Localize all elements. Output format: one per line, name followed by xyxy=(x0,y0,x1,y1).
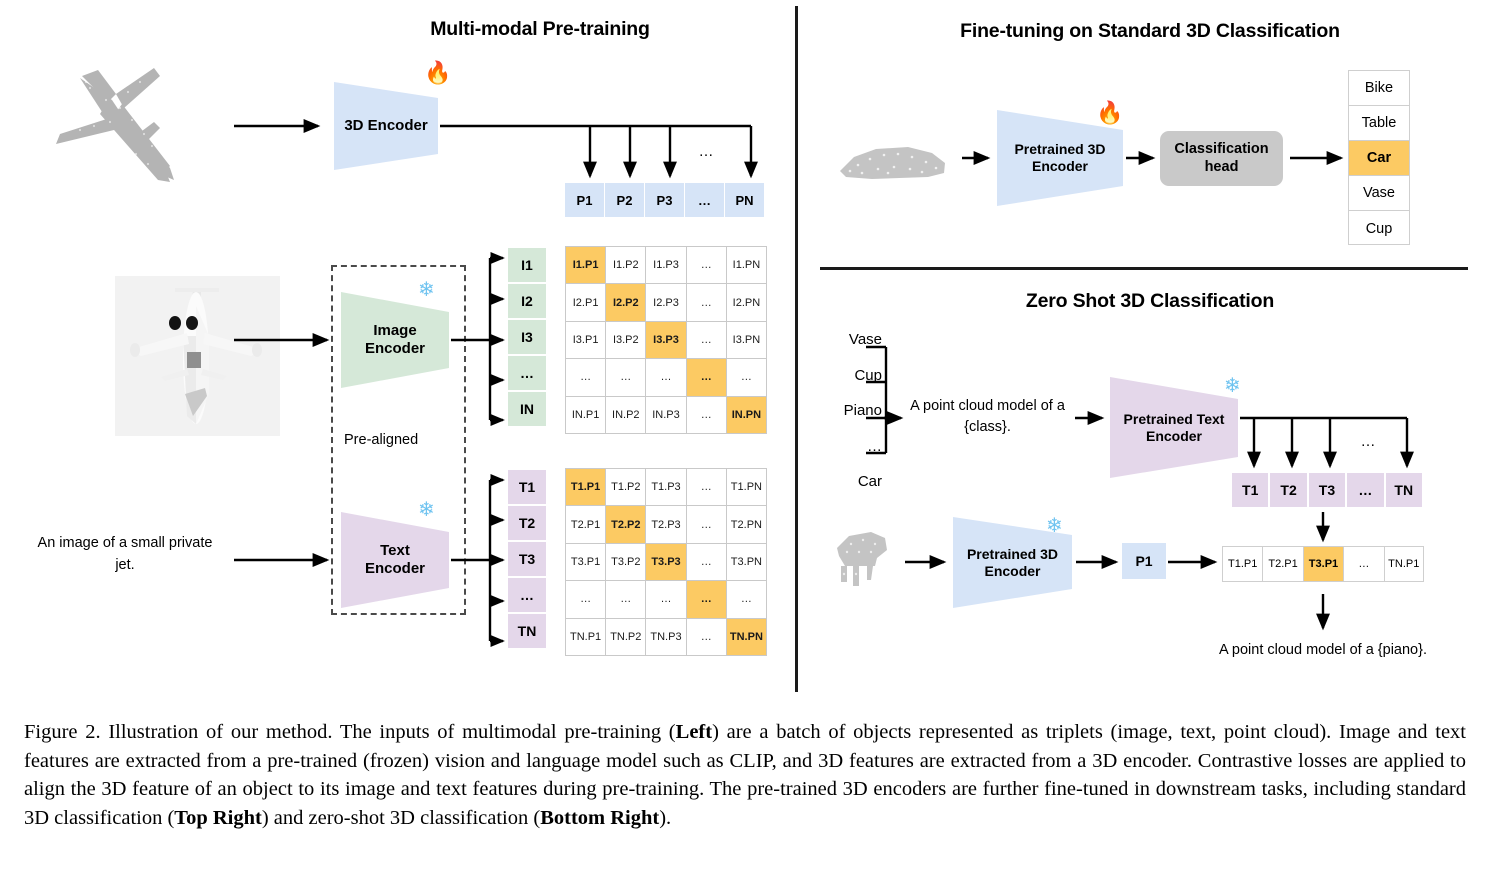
class-list-item[interactable]: Table xyxy=(1349,106,1409,141)
zero-shot-score-cell: T2.P1 xyxy=(1262,546,1302,582)
fire-icon: 🔥 xyxy=(424,62,451,84)
car-point-cloud xyxy=(832,135,952,187)
classification-head-label: Classification head xyxy=(1174,141,1268,176)
image-matrix-cell: I2.P2 xyxy=(606,284,645,320)
p-feature-cell: P1 xyxy=(565,183,605,217)
text-matrix-cell: … xyxy=(727,581,766,617)
image-matrix-cell: I3.P3 xyxy=(646,322,685,358)
classification-head[interactable]: Classification head xyxy=(1160,131,1283,186)
text-matrix-cell: … xyxy=(687,506,726,542)
zero-shot-t-row: T1T2T3…TN xyxy=(1232,473,1424,507)
text-matrix-cell: T3.P3 xyxy=(646,544,685,580)
snowflake-icon: ❄ xyxy=(1046,516,1063,536)
i-feature-cell: … xyxy=(508,356,546,392)
text-matrix-cell: T2.PN xyxy=(727,506,766,542)
image-matrix-cell: I3.PN xyxy=(727,322,766,358)
svg-text:…: … xyxy=(1361,433,1376,450)
private-jet-render xyxy=(115,276,280,436)
image-matrix-cell: IN.P1 xyxy=(566,397,605,433)
piano-point-cloud xyxy=(823,520,901,592)
p-feature-cell: P3 xyxy=(645,183,685,217)
text-matrix-cell: T2.P1 xyxy=(566,506,605,542)
text-matrix-cell: TN.P2 xyxy=(606,619,645,655)
image-matrix-cell: I3.P1 xyxy=(566,322,605,358)
bottom-right-panel-title: Zero Shot 3D Classification xyxy=(830,290,1470,313)
p-feature-cell: … xyxy=(685,183,725,217)
airplane-point-cloud xyxy=(20,48,220,208)
top-right-panel-title: Fine-tuning on Standard 3D Classificatio… xyxy=(830,20,1470,43)
zero-shot-score-cell: TN.P1 xyxy=(1384,546,1424,582)
pre-aligned-label: Pre-aligned xyxy=(344,432,418,448)
class-list-item[interactable]: Cup xyxy=(1349,211,1409,246)
zero-shot-score-cell: T3.P1 xyxy=(1303,546,1343,582)
t-feature-cell: T2 xyxy=(508,506,546,542)
text-encoder[interactable]: Text Encoder xyxy=(339,510,451,610)
i-feature-cell: I2 xyxy=(508,284,546,320)
p-feature-row: P1P2P3…PN xyxy=(565,183,765,217)
text-matrix-cell: … xyxy=(687,581,726,617)
image-matrix-cell: I1.PN xyxy=(727,247,766,283)
text-matrix-cell: T1.P2 xyxy=(606,469,645,505)
image-matrix-cell: I1.P3 xyxy=(646,247,685,283)
pretrained-text-encoder-label: Pretrained Text Encoder xyxy=(1108,375,1240,480)
image-matrix-cell: … xyxy=(566,359,605,395)
image-matrix-cell: I1.P1 xyxy=(566,247,605,283)
text-matrix-cell: T1.P1 xyxy=(566,469,605,505)
class-list-item[interactable]: Car xyxy=(1349,141,1409,176)
text-encoder-label: Text Encoder xyxy=(339,510,451,610)
t-feature-cell: TN xyxy=(508,614,546,650)
zero-shot-t-cell: T1 xyxy=(1232,473,1270,507)
zero-shot-class-label: Vase xyxy=(820,331,882,348)
zero-shot-class-list: VaseCupPiano…Car xyxy=(820,335,882,480)
figure-root: Multi-modal Pre-training xyxy=(0,0,1490,888)
pretrained-text-encoder[interactable]: Pretrained Text Encoder xyxy=(1108,375,1240,480)
text-matrix-cell: … xyxy=(606,581,645,617)
t-feature-cell: … xyxy=(508,578,546,614)
zero-shot-score-cell: … xyxy=(1343,546,1383,582)
image-matrix-cell: … xyxy=(687,284,726,320)
zero-shot-t-cell: … xyxy=(1347,473,1385,507)
i-feature-cell: I1 xyxy=(508,248,546,284)
svg-text:…: … xyxy=(699,143,714,160)
image-encoder[interactable]: Image Encoder xyxy=(339,290,451,390)
zero-shot-t-cell: T3 xyxy=(1309,473,1347,507)
p1-token: P1 xyxy=(1122,543,1166,579)
image-matrix-cell: IN.PN xyxy=(727,397,766,433)
image-matrix-cell: I3.P2 xyxy=(606,322,645,358)
zero-shot-class-label: Cup xyxy=(820,367,882,384)
t-feature-cell: T1 xyxy=(508,470,546,506)
t-feature-column: T1T2T3…TN xyxy=(508,470,546,652)
image-matrix-cell: IN.P3 xyxy=(646,397,685,433)
text-matrix-cell: TN.PN xyxy=(727,619,766,655)
text-input-caption: An image of a small private jet. xyxy=(30,532,220,576)
zero-shot-class-label: Car xyxy=(820,473,882,490)
image-matrix-cell: … xyxy=(606,359,645,395)
zero-shot-score-row: T1.P1T2.P1T3.P1…TN.P1 xyxy=(1222,546,1424,582)
p1-token-label: P1 xyxy=(1135,553,1152,569)
image-matrix-cell: … xyxy=(727,359,766,395)
p-feature-cell: P2 xyxy=(605,183,645,217)
figure-caption: Figure 2. Illustration of our method. Th… xyxy=(24,718,1466,832)
text-matrix-cell: T1.PN xyxy=(727,469,766,505)
text-matrix-cell: T3.PN xyxy=(727,544,766,580)
horizontal-divider xyxy=(820,267,1468,270)
image-matrix-cell: IN.P2 xyxy=(606,397,645,433)
zero-shot-t-cell: T2 xyxy=(1270,473,1308,507)
zero-shot-score-cell: T1.P1 xyxy=(1222,546,1262,582)
image-matrix-cell: I2.P1 xyxy=(566,284,605,320)
image-encoder-label: Image Encoder xyxy=(339,290,451,390)
image-matrix-cell: … xyxy=(687,247,726,283)
zero-shot-t-cell: TN xyxy=(1386,473,1424,507)
image-matrix-cell: I1.P2 xyxy=(606,247,645,283)
text-matrix-cell: … xyxy=(646,581,685,617)
image-matrix-cell: … xyxy=(687,359,726,395)
text-matrix-cell: … xyxy=(687,619,726,655)
snowflake-icon: ❄ xyxy=(418,280,435,300)
class-prediction-list: BikeTableCarVaseCup xyxy=(1348,70,1410,245)
text-matrix-cell: T2.P3 xyxy=(646,506,685,542)
zero-shot-class-label: Piano xyxy=(820,402,882,419)
text-matrix-cell: TN.P1 xyxy=(566,619,605,655)
text-matrix-cell: T3.P2 xyxy=(606,544,645,580)
text-matrix-cell: … xyxy=(566,581,605,617)
left-panel-title: Multi-modal Pre-training xyxy=(280,18,800,41)
vertical-divider xyxy=(795,6,798,692)
image-matrix-cell: … xyxy=(687,322,726,358)
3d-encoder-label: 3D Encoder xyxy=(332,80,440,172)
t-feature-cell: T3 xyxy=(508,542,546,578)
fire-icon: 🔥 xyxy=(1096,102,1123,124)
class-list-item[interactable]: Bike xyxy=(1349,71,1409,106)
image-matrix-cell: … xyxy=(687,397,726,433)
image-matrix-cell: I2.PN xyxy=(727,284,766,320)
text-matrix-cell: … xyxy=(687,469,726,505)
image-matrix-cell: … xyxy=(646,359,685,395)
p-feature-cell: PN xyxy=(725,183,765,217)
text-matrix-cell: T2.P2 xyxy=(606,506,645,542)
i-feature-cell: IN xyxy=(508,392,546,428)
class-list-item[interactable]: Vase xyxy=(1349,176,1409,211)
image-matrix-cell: I2.P3 xyxy=(646,284,685,320)
image-similarity-matrix: I1.P1I1.P2I1.P3…I1.PNI2.P1I2.P2I2.P3…I2.… xyxy=(565,246,767,434)
zero-shot-class-label: … xyxy=(820,438,882,455)
text-matrix-cell: T1.P3 xyxy=(646,469,685,505)
snowflake-icon: ❄ xyxy=(418,500,435,520)
text-matrix-cell: TN.P3 xyxy=(646,619,685,655)
zero-shot-result: A point cloud model of a {piano}. xyxy=(1198,642,1448,658)
i-feature-cell: I3 xyxy=(508,320,546,356)
i-feature-column: I1I2I3…IN xyxy=(508,248,546,430)
3d-encoder[interactable]: 3D Encoder xyxy=(332,80,440,172)
prompt-template: A point cloud model of a {class}. xyxy=(905,396,1070,438)
text-matrix-cell: … xyxy=(687,544,726,580)
snowflake-icon: ❄ xyxy=(1224,376,1241,396)
text-matrix-cell: T3.P1 xyxy=(566,544,605,580)
text-similarity-matrix: T1.P1T1.P2T1.P3…T1.PNT2.P1T2.P2T2.P3…T2.… xyxy=(565,468,767,656)
